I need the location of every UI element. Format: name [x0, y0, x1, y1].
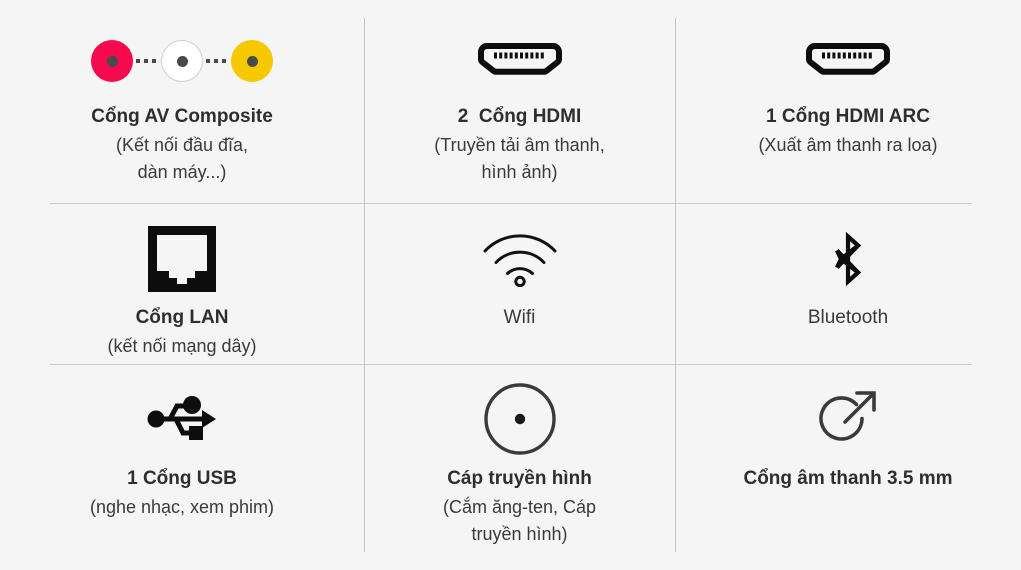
rca-jack-red [91, 40, 133, 82]
cell-subtitle: (Truyền tải âm thanh, hình ảnh) [434, 132, 604, 186]
rca-connector-dots [206, 59, 228, 63]
row-divider-2 [50, 364, 972, 365]
hdmi-arc-port-icon [805, 24, 891, 98]
rca-jack-row [91, 40, 273, 82]
cell-title: Wifi [504, 305, 536, 331]
cell-subtitle: (Kết nối đầu đĩa, dàn máy...) [116, 132, 248, 186]
cell-hdmi-arc: 1 Cổng HDMI ARC (Xuất âm thanh ra loa) [675, 0, 1021, 203]
cell-subtitle: (kết nối mạng dây) [107, 333, 256, 360]
column-divider-2 [675, 18, 676, 552]
cell-title: Cổng âm thanh 3.5 mm [743, 466, 952, 492]
cell-title: Cáp truyền hình [447, 466, 592, 492]
cell-title: Cổng LAN [136, 305, 229, 331]
cell-lan: Cổng LAN (kết nối mạng dây) [0, 203, 364, 364]
ports-grid: Cổng AV Composite (Kết nối đầu đĩa, dàn … [0, 0, 1021, 570]
cell-audio-35mm: Cổng âm thanh 3.5 mm [675, 364, 1021, 570]
cell-av-composite: Cổng AV Composite (Kết nối đầu đĩa, dàn … [0, 0, 364, 203]
cell-title: Cổng AV Composite [91, 104, 273, 130]
cell-title: 2 Cổng HDMI [458, 104, 582, 130]
coaxial-antenna-icon [482, 380, 558, 458]
wifi-icon [482, 223, 558, 295]
rca-pin [107, 56, 118, 67]
cell-title: 1 Cổng HDMI ARC [766, 104, 930, 130]
cell-hdmi: 2 Cổng HDMI (Truyền tải âm thanh, hình ả… [364, 0, 675, 203]
cell-subtitle: (Xuất âm thanh ra loa) [758, 132, 937, 159]
rca-pin [177, 56, 188, 67]
cell-subtitle: (Cắm ăng-ten, Cáp truyền hình) [443, 494, 596, 548]
rca-jack-yellow [231, 40, 273, 82]
rca-composite-icon [91, 24, 273, 98]
hdmi-port-icon [477, 24, 563, 98]
cell-subtitle: (nghe nhạc, xem phim) [90, 494, 274, 521]
cell-title: 1 Cổng USB [127, 466, 237, 492]
cell-title: Bluetooth [808, 305, 888, 331]
cell-usb: 1 Cổng USB (nghe nhạc, xem phim) [0, 364, 364, 570]
bluetooth-icon [828, 223, 868, 295]
audio-out-35mm-icon [815, 380, 881, 458]
cell-wifi: Wifi [364, 203, 675, 364]
row-divider-1 [50, 203, 972, 204]
lan-rj45-icon [148, 223, 216, 295]
connectivity-spec-board: Cổng AV Composite (Kết nối đầu đĩa, dàn … [0, 0, 1021, 570]
rca-jack-white [161, 40, 203, 82]
cell-coaxial: Cáp truyền hình (Cắm ăng-ten, Cáp truyền… [364, 364, 675, 570]
usb-icon [146, 380, 218, 458]
cell-bluetooth: Bluetooth [675, 203, 1021, 364]
column-divider-1 [364, 18, 365, 552]
rca-connector-dots [136, 59, 158, 63]
rca-pin [247, 56, 258, 67]
